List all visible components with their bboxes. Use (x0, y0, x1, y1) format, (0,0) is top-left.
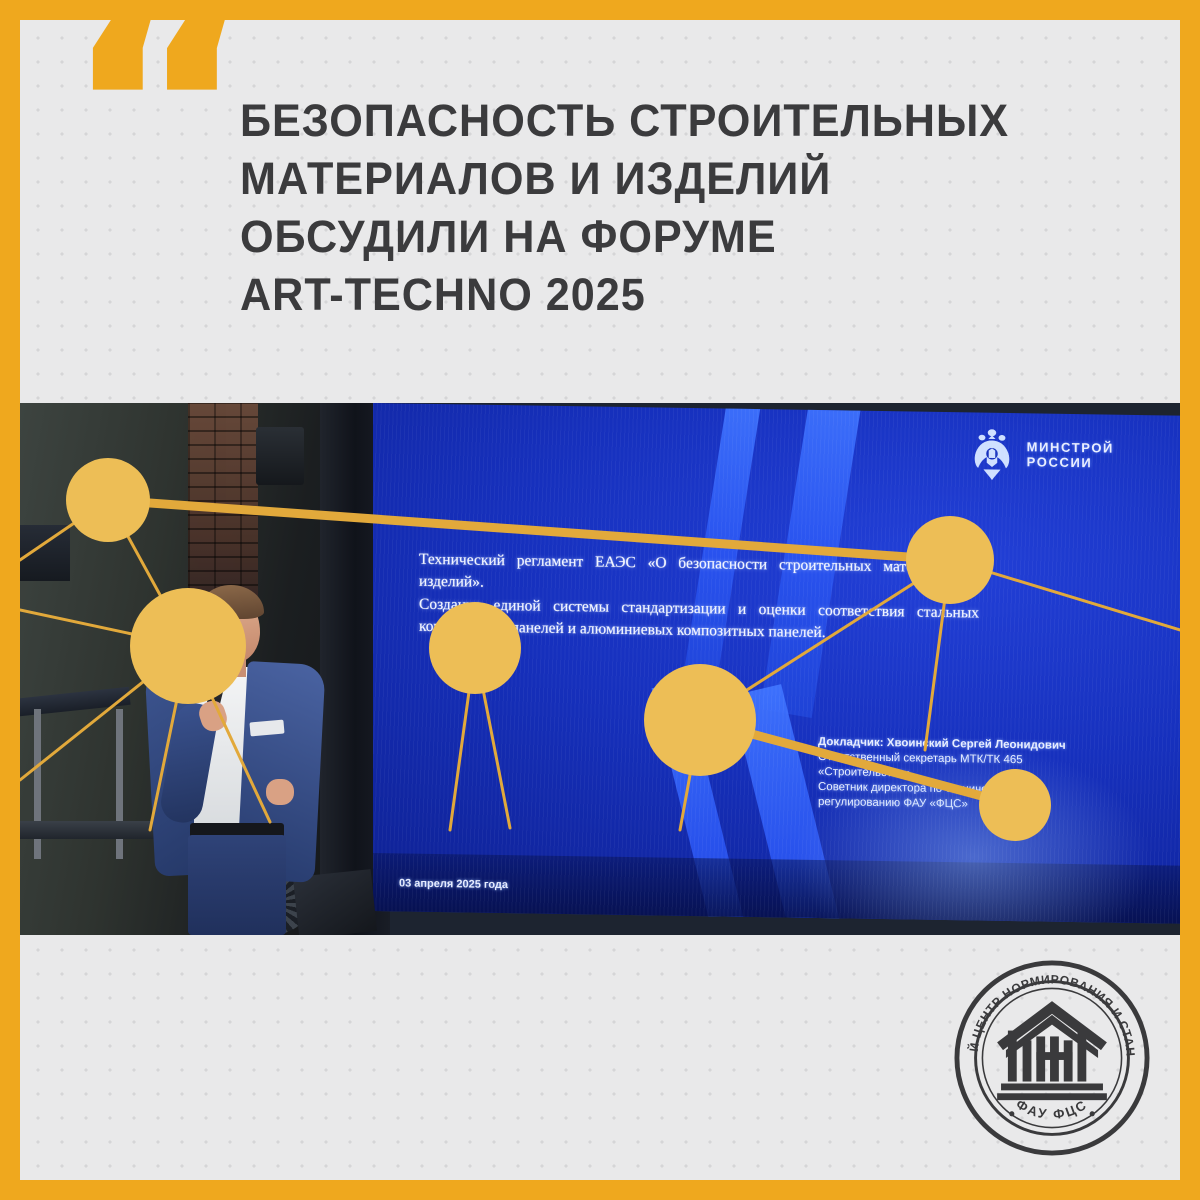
page-title: БЕЗОПАСНОСТЬ СТРОИТЕЛЬНЫХ МАТЕРИАЛОВ И И… (240, 92, 1170, 324)
header-block: “ БЕЗОПАСНОСТЬ СТРОИТЕЛЬНЫХ МАТЕРИАЛОВ И… (20, 20, 1180, 403)
network-node (979, 769, 1051, 841)
network-node (429, 602, 521, 694)
network-node (906, 516, 994, 604)
network-node (130, 588, 246, 704)
svg-text:ФАУ ФЦС: ФАУ ФЦС (1014, 1096, 1091, 1122)
seal-building-monogram (997, 1001, 1107, 1100)
network-node (66, 458, 150, 542)
network-node (644, 664, 756, 776)
fcs-official-seal-icon: ФЕДЕРАЛЬНЫЙ ЦЕНТР НОРМИРОВАНИЯ И СТАНДАР… (954, 960, 1150, 1156)
page-title-line-3: ОБСУДИЛИ НА ФОРУМЕ (240, 208, 1133, 266)
content-panel: “ БЕЗОПАСНОСТЬ СТРОИТЕЛЬНЫХ МАТЕРИАЛОВ И… (20, 20, 1180, 1180)
seal-outer-text-bottom: ФАУ ФЦС (1014, 1096, 1091, 1122)
network-edge (108, 500, 950, 560)
page-title-line-2: МАТЕРИАЛОВ И ИЗДЕЛИЙ (240, 150, 1133, 208)
page-title-line-1: БЕЗОПАСНОСТЬ СТРОИТЕЛЬНЫХ (240, 92, 1133, 150)
poster-root: “ БЕЗОПАСНОСТЬ СТРОИТЕЛЬНЫХ МАТЕРИАЛОВ И… (0, 0, 1200, 1200)
opening-quotation-mark-icon: “ (62, 20, 253, 262)
page-title-line-4: ART-TECHNO 2025 (240, 266, 1133, 324)
